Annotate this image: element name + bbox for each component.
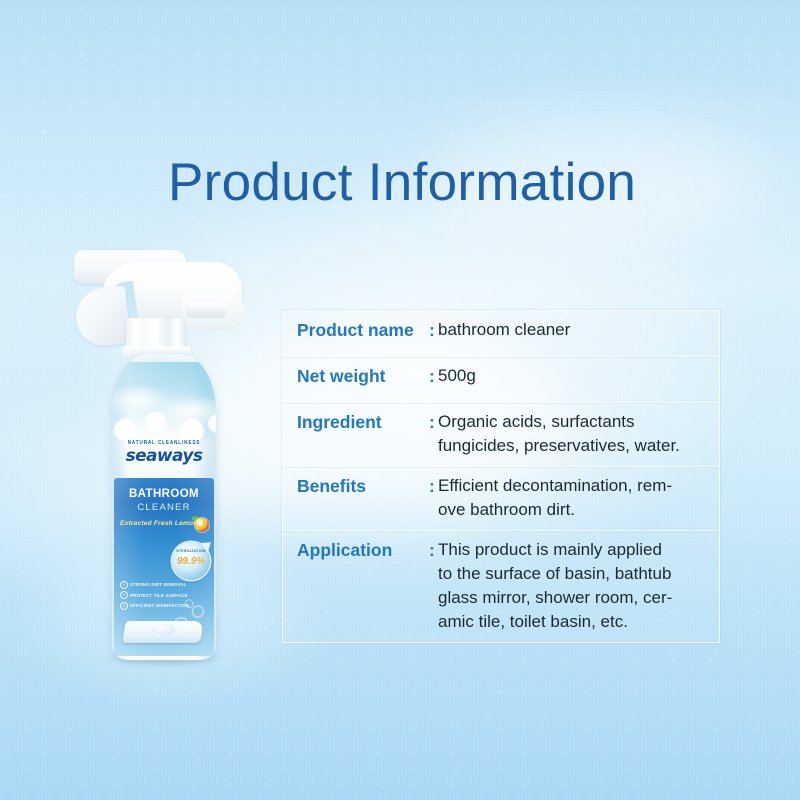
value-line: to the surface of basin, bathtub	[438, 562, 709, 586]
value-line: 500g	[438, 364, 709, 388]
bottle-body: NATURAL CLEANLINESS seaways BATHROOM CLE…	[112, 354, 216, 660]
value-line: Efficient decontamination, rem-	[438, 474, 709, 498]
check-icon: ✓	[120, 602, 128, 610]
row-colon: :	[429, 318, 438, 342]
row-label: Application	[283, 538, 429, 562]
row-colon: :	[429, 474, 438, 498]
sprayer-snout	[182, 294, 244, 330]
value-line: amic tile, toilet basin, etc.	[438, 610, 709, 634]
table-row: Benefits : Efficient decontamination, re…	[283, 467, 719, 531]
value-line: bathroom cleaner	[438, 318, 709, 342]
row-colon: :	[429, 364, 438, 388]
value-line: glass mirror, shower room, cer-	[438, 586, 709, 610]
table-row: Product name : bathroom cleaner	[283, 311, 719, 357]
value-line: Organic acids, surfactants	[438, 410, 709, 434]
product-information-poster: Product Information NATURAL CLEANLINESS …	[0, 0, 800, 800]
row-label: Ingredient	[283, 410, 429, 434]
table-row: Net weight : 500g	[283, 357, 719, 403]
badge-caption: STERILIZATION	[172, 549, 210, 553]
brand-tagline: NATURAL CLEANLINESS	[112, 440, 216, 446]
row-colon: :	[429, 538, 438, 562]
label-title: BATHROOM	[114, 488, 214, 500]
row-value: Efficient decontamination, rem- ove bath…	[438, 474, 719, 522]
table-row: Ingredient : Organic acids, surfactants …	[283, 403, 719, 467]
bubbles-icon	[168, 594, 212, 638]
check-icon: ✓	[120, 581, 128, 589]
row-value: 500g	[438, 364, 719, 388]
label-scent-text: Extracted Fresh Lemon	[120, 520, 194, 527]
label-subtitle: CLEANER	[114, 502, 214, 513]
row-label: Net weight	[283, 364, 429, 388]
brand-block: NATURAL CLEANLINESS seaways	[112, 440, 216, 466]
product-bottle-image: NATURAL CLEANLINESS seaways BATHROOM CLE…	[62, 248, 262, 668]
row-value: bathroom cleaner	[438, 318, 719, 342]
lemon-icon	[195, 518, 209, 532]
trigger-lever	[73, 285, 131, 348]
row-value: This product is mainly applied to the su…	[438, 538, 719, 634]
value-line: This product is mainly applied	[438, 538, 709, 562]
page-title: Product Information	[168, 152, 636, 214]
product-info-table: Product name : bathroom cleaner Net weig…	[282, 310, 720, 643]
check-icon: ✓	[120, 591, 128, 599]
value-line: fungicides, preservatives, water.	[438, 434, 709, 458]
table-row: Application : This product is mainly app…	[283, 531, 719, 642]
badge-percent: 99.9%	[172, 556, 210, 567]
row-value: Organic acids, surfactants fungicides, p…	[438, 410, 719, 458]
sterilization-badge: STERILIZATION 99.9%	[172, 542, 210, 580]
row-colon: :	[429, 410, 438, 434]
row-label: Benefits	[283, 474, 429, 498]
list-item: ✓ STRONG DIRT REMOVAL	[120, 581, 194, 589]
bottle-label-band: BATHROOM CLEANER Extracted Fresh Lemon S…	[114, 478, 214, 656]
spray-nozzle-icon	[186, 302, 226, 318]
row-label: Product name	[283, 318, 429, 342]
value-line: ove bathroom dirt.	[438, 498, 709, 522]
feature-text: STRONG DIRT REMOVAL	[130, 582, 187, 588]
brand-name: seaways	[112, 446, 216, 466]
